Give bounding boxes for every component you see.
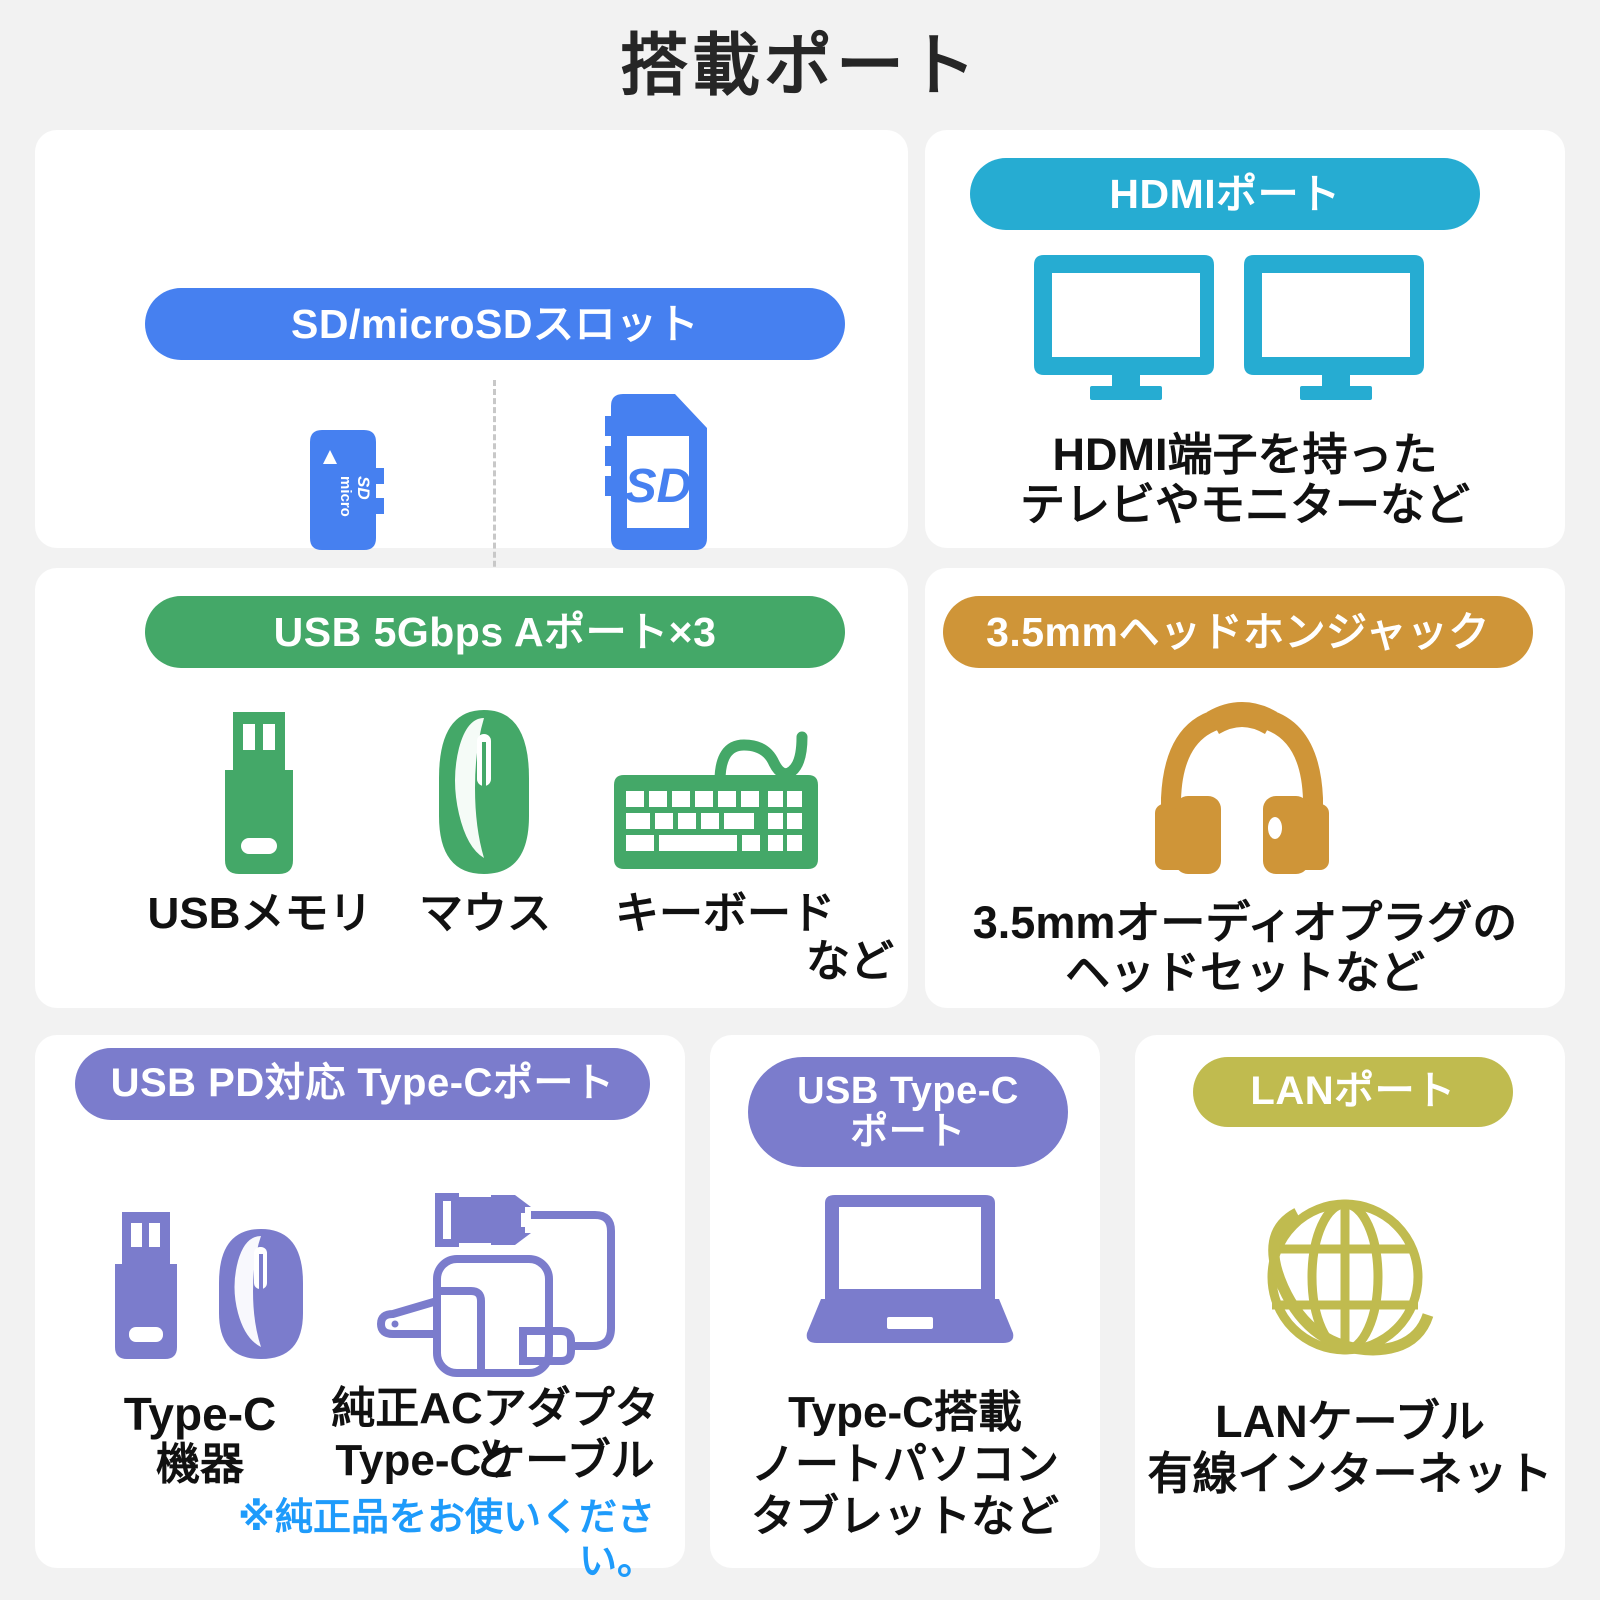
- caption-hdmi-line-2: テレビやモニターなど: [925, 478, 1565, 531]
- page-title: 搭載ポート: [0, 18, 1600, 114]
- usb-flash-drive-icon: [111, 1208, 181, 1363]
- mouse-icon: [215, 1227, 307, 1362]
- dual-monitor-icon: [1030, 255, 1430, 400]
- pill-usb-type-c-line-1: USB Type-C: [797, 1071, 1019, 1112]
- ac-adapter-cable-icon: [375, 1183, 625, 1378]
- caption-lan-line-2: 有線インターネット: [1135, 1447, 1565, 1500]
- pill-hdmi-port: HDMIポート: [970, 158, 1480, 230]
- usb-flash-drive-icon: [221, 708, 297, 878]
- pill-usb-type-c-line-2: ポート: [850, 1112, 966, 1153]
- pill-usb-pd-type-c: USB PD対応 Type-Cポート: [75, 1048, 650, 1120]
- sd-card-label: SD: [625, 460, 692, 513]
- caption-hdmi-line-1: HDMI端子を持った: [925, 428, 1565, 481]
- caption-headphone-line-2: ヘッドセットなど: [925, 946, 1565, 999]
- caption-type-c-device-main: Type-C: [75, 1387, 325, 1441]
- keyboard-icon: [610, 723, 822, 878]
- caption-keyboard: キーボード: [575, 888, 875, 940]
- svg-text:SD: SD: [354, 476, 373, 500]
- pill-sd-slot: SD/microSDスロット: [145, 288, 845, 360]
- headphones-icon: [1147, 700, 1337, 875]
- card-headphone-jack: 3.5mmヘッドホンジャック 3.5mmオーディオプラグの ヘッドセットなど: [925, 568, 1565, 1008]
- pill-headphone-jack: 3.5mmヘッドホンジャック: [943, 596, 1533, 668]
- mouse-icon: [435, 708, 533, 878]
- caption-usb-type-c-line-3: タブレットなど: [710, 1491, 1100, 1543]
- card-usb-type-c: USB Type-C ポート Type-C搭載 ノートパソコン タブレットなど: [710, 1035, 1100, 1568]
- caption-type-c-device-sub: 機器: [75, 1439, 325, 1491]
- note-genuine-product: ※純正品をお使いください。: [215, 1497, 655, 1584]
- card-lan-port: LANポート LANケーブル 有線インターネット: [1135, 1035, 1565, 1568]
- pill-lan-port: LANポート: [1193, 1057, 1513, 1127]
- card-hdmi-port: HDMIポート HDMI端子を持った テレビやモニターなど: [925, 130, 1565, 548]
- sd-card-icon: SD: [603, 392, 713, 552]
- microsd-card-icon: SD micro: [306, 428, 390, 552]
- svg-text:micro: micro: [337, 476, 354, 517]
- caption-usb-type-c-line-1: Type-C搭載: [710, 1387, 1100, 1439]
- caption-mouse: マウス: [375, 888, 595, 940]
- laptop-icon: [805, 1195, 1015, 1345]
- card-usb-a-port: USB 5Gbps Aポート×3 USBメモリ: [35, 568, 908, 1008]
- pill-usb-a-port: USB 5Gbps Aポート×3: [145, 596, 845, 668]
- infographic-page: 搭載ポート SD/microSDスロット SD micro microSD カー…: [0, 0, 1600, 1600]
- globe-network-icon: [1245, 1185, 1445, 1360]
- caption-usb-memory: USBメモリ: [130, 888, 390, 940]
- card-usb-pd-type-c: USB PD対応 Type-Cポート: [35, 1035, 685, 1568]
- caption-usb-type-c-line-2: ノートパソコン: [710, 1439, 1100, 1491]
- caption-usb-a-trailing: など: [790, 936, 910, 988]
- card-sd-slot: SD/microSDスロット SD micro microSD カード SD S: [35, 130, 908, 548]
- pill-usb-type-c: USB Type-C ポート: [748, 1057, 1068, 1167]
- caption-lan-line-1: LANケーブル: [1135, 1395, 1565, 1448]
- caption-ac-adapter-sub: Type-Cケーブル: [315, 1435, 675, 1487]
- caption-headphone-line-1: 3.5mmオーディオプラグの: [925, 896, 1565, 949]
